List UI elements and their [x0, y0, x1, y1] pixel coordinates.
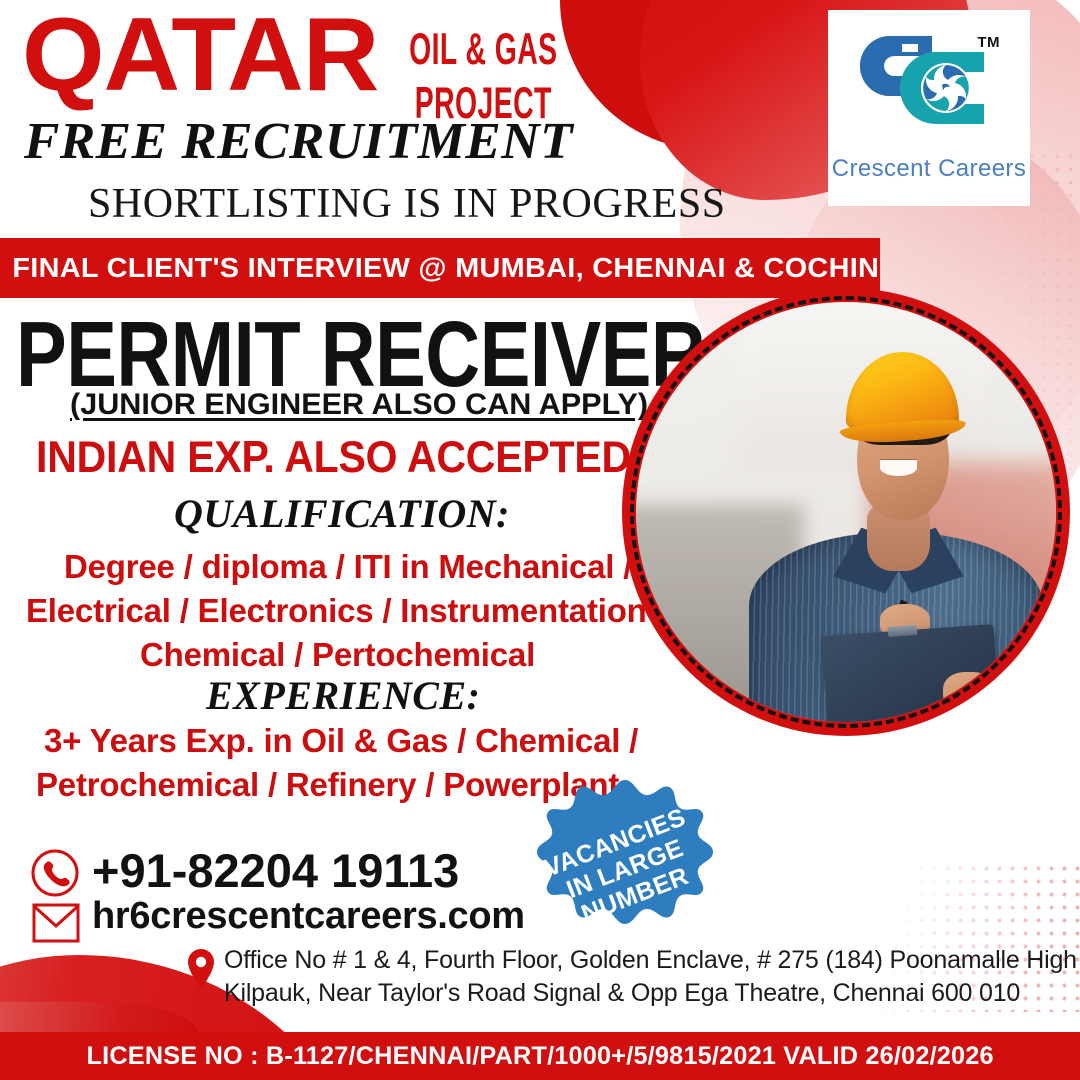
- red-blob-top-extension: [560, 0, 860, 150]
- license-bar-notch: [0, 1002, 200, 1036]
- worker-photo: [622, 288, 1070, 736]
- headline-row: QATAR OIL & GAS PROJECT: [22, 8, 570, 104]
- company-name: Crescent Careers: [832, 155, 1026, 183]
- email-address[interactable]: hr6crescentcareers.com: [92, 895, 525, 938]
- interview-banner-text: FINAL CLIENT'S INTERVIEW @ MUMBAI, CHENN…: [0, 252, 879, 284]
- company-logo-card: TM Crescent Careers: [828, 10, 1030, 206]
- qualification-line-2: Electrical / Electronics / Instrumentati…: [26, 592, 665, 630]
- job-subtitle: (JUNIOR ENGINEER ALSO CAN APPLY): [70, 388, 648, 422]
- recruitment-poster: QATAR OIL & GAS PROJECT FREE RECRUITMENT…: [0, 0, 1080, 1080]
- shortlisting-status: SHORTLISTING IS IN PROGRESS: [88, 180, 726, 228]
- experience-line-1: 3+ Years Exp. in Oil & Gas / Chemical /: [44, 722, 638, 760]
- location-pin-icon: [186, 948, 216, 990]
- trademark-symbol: TM: [977, 34, 1000, 51]
- address-line-2: Kilpauk, Near Taylor's Road Signal & Opp…: [224, 977, 1080, 1010]
- country-title: QATAR: [22, 8, 378, 104]
- sector-line-1: OIL & GAS: [409, 22, 557, 76]
- qualification-line-3: Chemical / Pertochemical: [140, 636, 535, 674]
- email-icon: [32, 902, 80, 944]
- license-text: LICENSE NO : B-1127/CHENNAI/PART/1000+/5…: [86, 1042, 993, 1071]
- free-recruitment-title: FREE RECRUITMENT: [24, 112, 573, 171]
- license-bar: LICENSE NO : B-1127/CHENNAI/PART/1000+/5…: [0, 1032, 1080, 1080]
- experience-heading: EXPERIENCE:: [206, 672, 480, 719]
- photo-image: [636, 302, 1056, 722]
- qualification-line-1: Degree / diploma / ITI in Mechanical /: [64, 548, 632, 586]
- office-address: Office No # 1 & 4, Fourth Floor, Golden …: [224, 944, 1080, 1010]
- phone-number[interactable]: +91-82204 19113: [92, 843, 459, 898]
- phone-icon: [30, 848, 80, 898]
- vacancies-burst-badge: VACANCIES IN LARGE NUMBER: [522, 774, 728, 964]
- indian-experience-note: INDIAN EXP. ALSO ACCEPTED: [36, 432, 631, 483]
- address-line-1: Office No # 1 & 4, Fourth Floor, Golden …: [224, 944, 1080, 977]
- qualification-heading: QUALIFICATION:: [174, 490, 510, 537]
- crescent-careers-logo-icon: TM: [854, 22, 1004, 157]
